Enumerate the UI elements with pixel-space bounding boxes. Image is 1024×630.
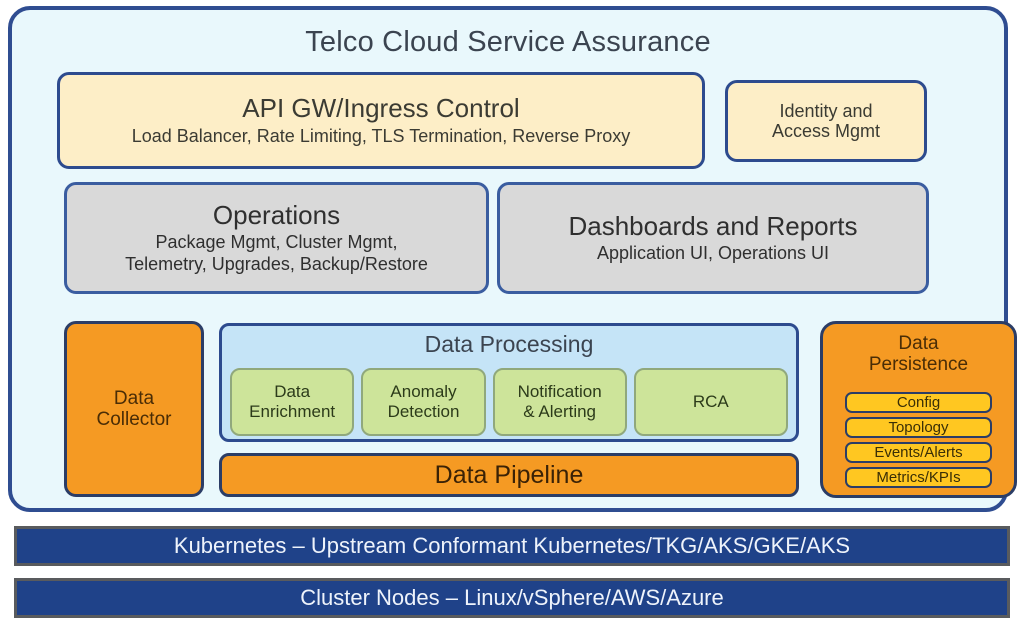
store-events-alerts[interactable]: Events/Alerts [845, 442, 992, 463]
data-persistence-title: Data Persistence [869, 333, 968, 376]
data-processing-components-row: Data Enrichment Anomaly Detection Notifi… [230, 368, 788, 436]
api-gateway-ingress-control-box[interactable]: API GW/Ingress Control Load Balancer, Ra… [57, 72, 705, 169]
data-collector-box[interactable]: Data Collector [64, 321, 204, 497]
data-pipeline-box[interactable]: Data Pipeline [219, 453, 799, 497]
api-gateway-subtitle: Load Balancer, Rate Limiting, TLS Termin… [132, 126, 631, 147]
rca-label: RCA [693, 392, 729, 412]
data-persistence-line-1: Data [898, 333, 938, 354]
platform-title: Telco Cloud Service Assurance [12, 26, 1004, 59]
data-persistence-store-list: Config Topology Events/Alerts Metrics/KP… [845, 392, 992, 488]
data-processing-title: Data Processing [425, 331, 594, 358]
data-enrichment-label: Data Enrichment [249, 382, 335, 421]
identity-line-2: Access Mgmt [772, 121, 880, 141]
data-enrichment-line-1: Data [274, 382, 310, 401]
cluster-nodes-layer-bar: Cluster Nodes – Linux/vSphere/AWS/Azure [14, 578, 1010, 618]
data-persistence-line-2: Persistence [869, 354, 968, 375]
anomaly-detection-box[interactable]: Anomaly Detection [361, 368, 485, 436]
rca-box[interactable]: RCA [634, 368, 788, 436]
data-collector-line-1: Data [114, 388, 154, 409]
data-collector-line-2: Collector [97, 409, 172, 430]
telco-cloud-service-assurance-container: Telco Cloud Service Assurance API GW/Ing… [8, 6, 1008, 512]
anomaly-detection-label: Anomaly Detection [388, 382, 460, 421]
identity-and-access-mgmt-box[interactable]: Identity and Access Mgmt [725, 80, 927, 162]
identity-line-1: Identity and [779, 101, 872, 121]
anomaly-detection-line-1: Anomaly [390, 382, 456, 401]
anomaly-detection-line-2: Detection [388, 402, 460, 421]
operations-box[interactable]: Operations Package Mgmt, Cluster Mgmt, T… [64, 182, 489, 294]
notification-alerting-line-1: Notification [518, 382, 602, 401]
data-persistence-box: Data Persistence Config Topology Events/… [820, 321, 1017, 498]
store-topology[interactable]: Topology [845, 417, 992, 438]
dashboards-subtitle: Application UI, Operations UI [597, 243, 829, 264]
data-processing-box: Data Processing Data Enrichment Anomaly … [219, 323, 799, 442]
operations-subtitle-line-1: Package Mgmt, Cluster Mgmt, [155, 232, 397, 253]
dashboards-and-reports-box[interactable]: Dashboards and Reports Application UI, O… [497, 182, 929, 294]
operations-title: Operations [213, 201, 340, 230]
notification-alerting-label: Notification & Alerting [518, 382, 602, 421]
data-enrichment-line-2: Enrichment [249, 402, 335, 421]
notification-alerting-line-2: & Alerting [523, 402, 596, 421]
store-metrics-kpis[interactable]: Metrics/KPIs [845, 467, 992, 488]
store-config[interactable]: Config [845, 392, 992, 413]
api-gateway-title: API GW/Ingress Control [242, 94, 519, 123]
data-enrichment-box[interactable]: Data Enrichment [230, 368, 354, 436]
data-pipeline-title: Data Pipeline [435, 461, 584, 489]
dashboards-title: Dashboards and Reports [568, 212, 857, 241]
kubernetes-layer-bar: Kubernetes – Upstream Conformant Kuberne… [14, 526, 1010, 566]
notification-and-alerting-box[interactable]: Notification & Alerting [493, 368, 627, 436]
operations-subtitle-line-2: Telemetry, Upgrades, Backup/Restore [125, 254, 428, 275]
